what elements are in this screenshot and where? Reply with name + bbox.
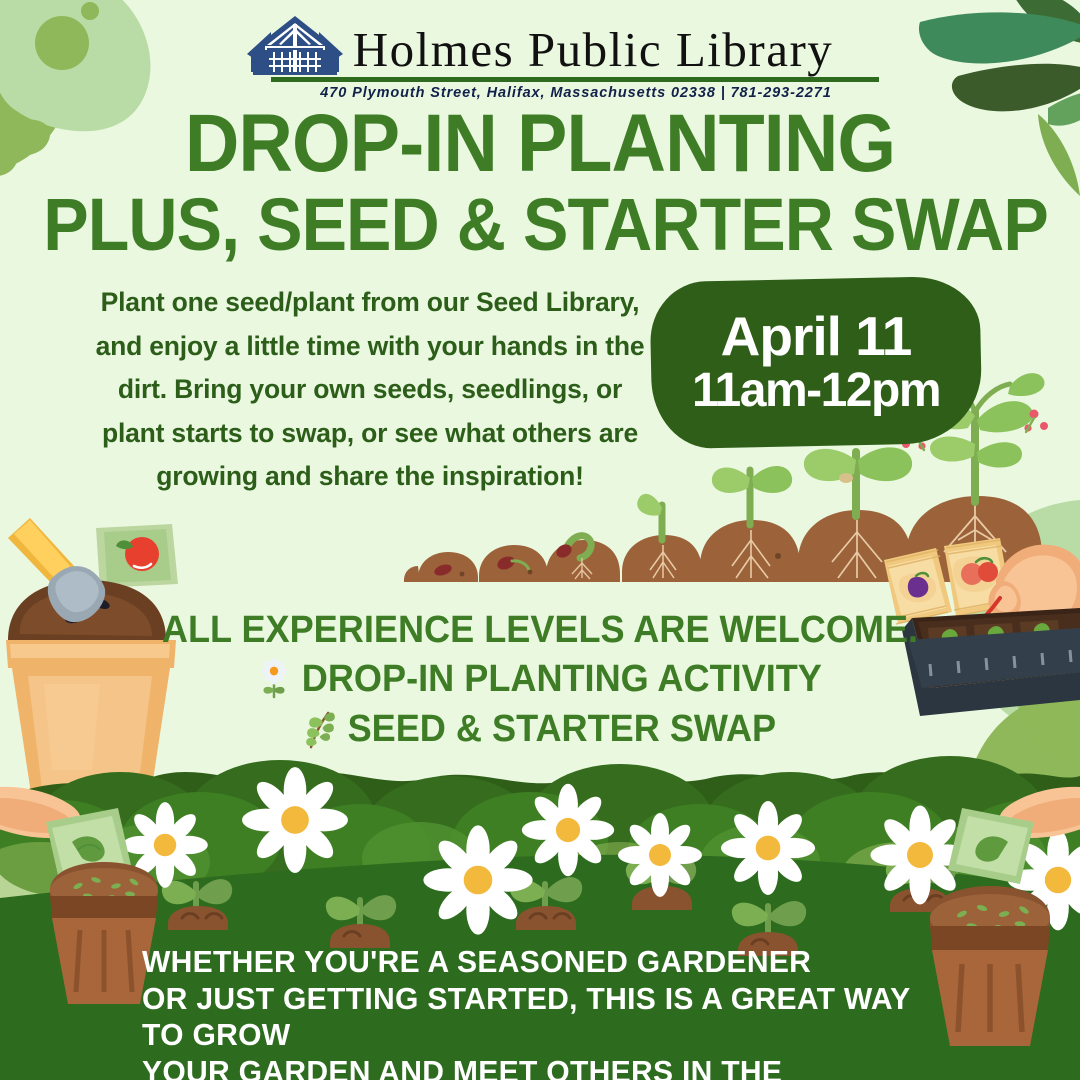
header: Holmes Public Library 470 Plymouth Stree… <box>0 14 1080 101</box>
highlights-list: All experience levels are welcome. <box>0 606 1080 754</box>
logo-row: Holmes Public Library <box>247 14 834 76</box>
header-rule <box>271 77 879 82</box>
footer-text: Whether you're a seasoned gardener or ju… <box>142 944 918 1080</box>
highlight-label: Drop-In Planting Activity <box>302 654 822 704</box>
page-title-line1: Drop-In Planting <box>43 101 1037 187</box>
list-item: All experience levels are welcome. <box>27 606 1053 654</box>
highlight-label: All experience levels are welcome. <box>162 606 918 654</box>
footer-line-2: or just getting started, this is a great… <box>142 981 918 1054</box>
library-name: Holmes Public Library <box>353 24 834 76</box>
footer-line-1: Whether you're a seasoned gardener <box>142 944 918 981</box>
seed-packet-tomato-left <box>96 524 178 588</box>
event-description: Plant one seed/plant from our Seed Libra… <box>95 281 645 499</box>
footer-line-3: your garden and meet others in the commu… <box>142 1054 918 1080</box>
poster-canvas: Holmes Public Library 470 Plymouth Stree… <box>0 0 1080 1080</box>
garden-pot-right <box>930 886 1050 1046</box>
page-title-line2: Plus, Seed & Starter Swap <box>43 186 1037 264</box>
library-address: 470 Plymouth Street, Halifax, Massachuse… <box>320 85 831 101</box>
date-badge-shape <box>649 276 982 450</box>
daisy-flower-icon <box>258 659 290 699</box>
list-item: Seed & Starter Swap <box>27 704 1053 754</box>
library-building-icon <box>247 14 343 76</box>
highlight-label: Seed & Starter Swap <box>348 704 777 754</box>
list-item: Drop-In Planting Activity <box>27 654 1053 704</box>
herb-sprig-icon <box>304 709 336 749</box>
